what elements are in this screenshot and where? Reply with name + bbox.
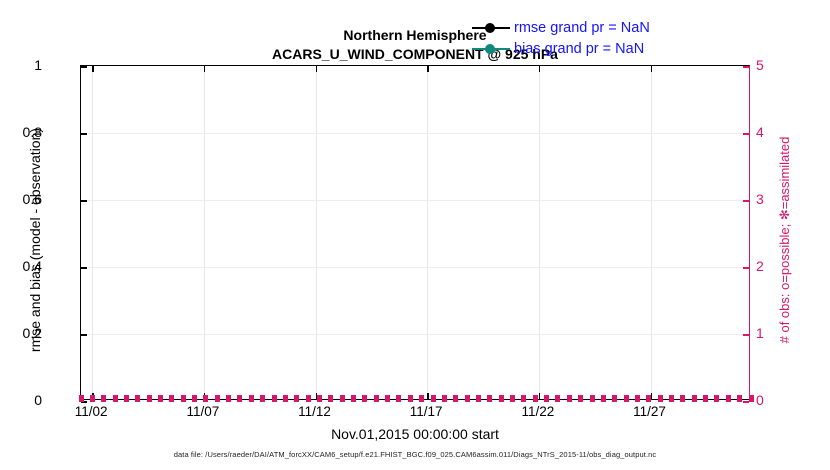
obs-marker [157, 394, 164, 403]
obs-marker [282, 394, 289, 403]
obs-marker [475, 394, 482, 403]
y-tick-left [81, 133, 87, 135]
obs-marker [350, 394, 357, 403]
vertical-gridline [651, 66, 652, 399]
y-tick-label-right: 0 [756, 392, 764, 408]
obs-marker [214, 394, 221, 403]
x-tick-top [92, 66, 94, 72]
legend-item-bias: bias grand pr = NaN [472, 39, 650, 58]
obs-marker [373, 394, 380, 403]
horizontal-gridline [81, 200, 749, 201]
obs-marker [441, 394, 448, 403]
obs-marker [123, 394, 130, 403]
obs-marker [452, 394, 459, 403]
obs-marker [112, 394, 119, 403]
obs-marker [430, 394, 437, 403]
obs-marker [657, 394, 664, 403]
y-tick-right [743, 401, 749, 403]
y-tick-right [743, 334, 749, 336]
obs-marker [293, 394, 300, 403]
legend-label-rmse: rmse grand pr = NaN [514, 20, 650, 36]
obs-marker [236, 394, 243, 403]
horizontal-gridline [81, 334, 749, 335]
obs-marker [509, 394, 516, 403]
legend-line-marker-icon [472, 43, 510, 55]
obs-marker [679, 394, 686, 403]
x-tick-top [539, 66, 541, 72]
obs-marker [395, 394, 402, 403]
x-tick-bottom [92, 393, 94, 399]
y-tick-label-right: 5 [756, 57, 764, 73]
obs-marker [532, 394, 539, 403]
obs-marker [589, 394, 596, 403]
vertical-gridline [316, 66, 317, 399]
x-tick-bottom [204, 393, 206, 399]
obs-marker [577, 394, 584, 403]
obs-marker [713, 394, 720, 403]
obs-marker [339, 394, 346, 403]
obs-marker [702, 394, 709, 403]
vertical-gridline [427, 66, 428, 399]
obs-marker [725, 394, 732, 403]
x-tick-label: 11/02 [75, 404, 108, 419]
obs-marker [327, 394, 334, 403]
x-tick-top [651, 66, 653, 72]
legend-label-bias: bias grand pr = NaN [514, 41, 644, 57]
x-tick-label: 11/27 [633, 404, 666, 419]
obs-marker [407, 394, 414, 403]
chart-subtitle: ACARS_U_WIND_COMPONENT @ 925 hPa [0, 45, 830, 64]
x-tick-top [316, 66, 318, 72]
legend-item-rmse: rmse grand pr = NaN [472, 18, 650, 37]
obs-marker [611, 394, 618, 403]
obs-marker [180, 394, 187, 403]
y-tick-right [743, 200, 749, 202]
horizontal-gridline [81, 133, 749, 134]
obs-marker [316, 394, 323, 403]
obs-marker [634, 394, 641, 403]
obs-marker [225, 394, 232, 403]
vertical-gridline [539, 66, 540, 399]
obs-marker [691, 394, 698, 403]
obs-marker [464, 394, 471, 403]
y-tick-right [743, 133, 749, 135]
x-tick-bottom [539, 393, 541, 399]
obs-marker [623, 394, 630, 403]
obs-marker [271, 394, 278, 403]
y-tick-left [81, 267, 87, 269]
obs-marker [134, 394, 141, 403]
plot-area [80, 65, 750, 400]
y-axis-title-left: rmse and bias (model - observation) [27, 40, 43, 440]
x-axis-title: Nov.01,2015 00:00:00 start [0, 426, 830, 442]
legend-line-marker-icon [472, 22, 510, 34]
chart-legend: rmse grand pr = NaN bias grand pr = NaN [472, 18, 650, 58]
obs-marker [486, 394, 493, 403]
obs-marker [384, 394, 391, 403]
obs-marker [554, 394, 561, 403]
x-tick-label: 11/07 [186, 404, 219, 419]
y-axis-title-right: # of obs: o=possible; ✻=assimilated [777, 40, 793, 440]
x-tick-top [204, 66, 206, 72]
obs-marker [259, 394, 266, 403]
x-tick-bottom [651, 393, 653, 399]
obs-marker [600, 394, 607, 403]
obs-marker [520, 394, 527, 403]
y-tick-label-right: 1 [756, 325, 764, 341]
y-tick-left [81, 66, 87, 68]
obs-marker [146, 394, 153, 403]
obs-marker [191, 394, 198, 403]
vertical-gridline [204, 66, 205, 399]
horizontal-gridline [81, 267, 749, 268]
y-tick-label-right: 2 [756, 258, 764, 274]
y-tick-right [743, 66, 749, 68]
x-tick-label: 11/22 [521, 404, 554, 419]
y-tick-label-right: 4 [756, 124, 764, 140]
obs-marker [668, 394, 675, 403]
obs-marker [543, 394, 550, 403]
x-tick-label: 11/12 [298, 404, 331, 419]
obs-marker [248, 394, 255, 403]
y-tick-right [743, 267, 749, 269]
y-tick-left [81, 200, 87, 202]
x-tick-top [427, 66, 429, 72]
obs-marker [305, 394, 312, 403]
data-file-footer: data file: /Users/raeder/DAI/ATM_forcXX/… [0, 450, 830, 459]
y-tick-label-right: 3 [756, 191, 764, 207]
chart-title-block: Northern Hemisphere ACARS_U_WIND_COMPONE… [0, 26, 830, 64]
y-tick-left [81, 334, 87, 336]
chart-title: Northern Hemisphere [0, 26, 830, 45]
obs-marker [418, 394, 425, 403]
gridlines [81, 66, 749, 399]
obs-marker [100, 394, 107, 403]
obs-marker [168, 394, 175, 403]
obs-marker [498, 394, 505, 403]
x-tick-bottom [427, 393, 429, 399]
obs-marker [566, 394, 573, 403]
y-tick-left [81, 401, 87, 403]
vertical-gridline [92, 66, 93, 399]
obs-marker [361, 394, 368, 403]
obs-marker-series [81, 394, 749, 403]
x-tick-label: 11/17 [410, 404, 443, 419]
x-tick-bottom [316, 393, 318, 399]
